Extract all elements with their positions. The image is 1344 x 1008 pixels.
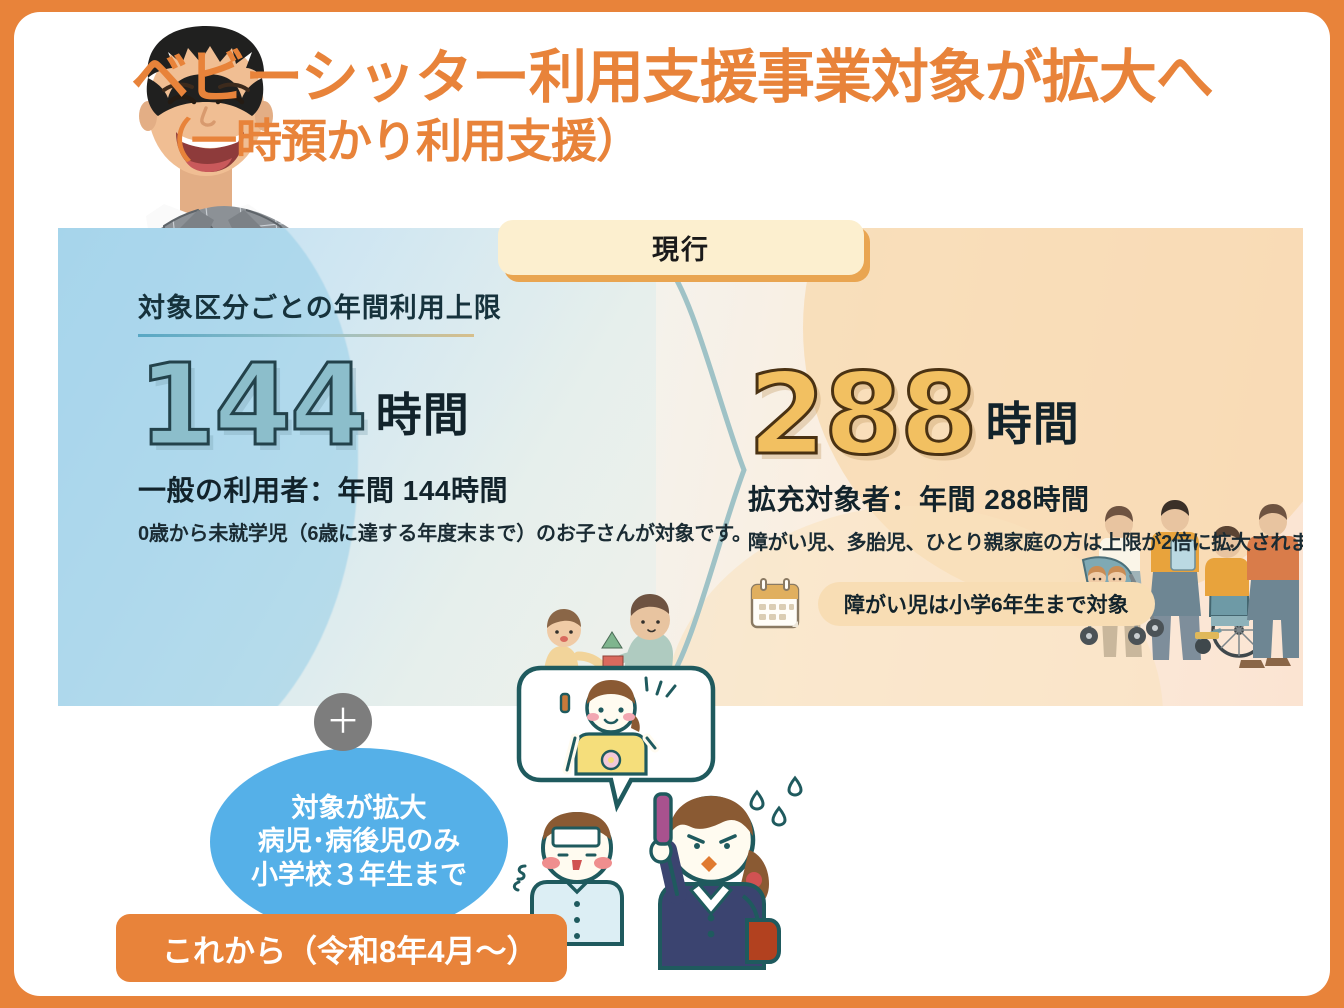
left-subline: 一般の利用者：年間 144時間: [138, 469, 698, 509]
left-figure-row: 144 時間: [138, 353, 698, 459]
future-banner-label: これから（令和8年4月～）: [162, 926, 537, 971]
right-subline: 拡充対象者：年間 288時間: [748, 478, 1303, 518]
heading-underline: [138, 334, 474, 337]
title-line-2: （一時預かり利用支援）: [14, 115, 1330, 168]
right-figure-row: 288 時間: [748, 362, 1303, 468]
poster-root: ベビーシッター利用支援事業対象が拡大へ （一時預かり利用支援） 現行: [0, 0, 1344, 1008]
plus-icon: ＋: [314, 693, 372, 751]
calendar-pill: 障がい児は小学6年生まで対象: [818, 582, 1155, 626]
badge-face: 現行: [498, 220, 864, 275]
right-hours-unit: 時間: [986, 388, 1080, 454]
current-status-badge: 現行: [498, 220, 870, 282]
calendar-callout: 障がい児は小学6年生まで対象: [748, 577, 1303, 631]
current-badge-label: 現行: [652, 228, 710, 267]
future-banner: これから（令和8年4月～）: [116, 914, 567, 982]
title-line-1: ベビーシッター利用支援事業対象が拡大へ: [14, 46, 1330, 109]
right-hours-number: 288: [748, 362, 976, 468]
right-column: 288 時間 拡充対象者：年間 288時間 障がい児、多胎児、ひとり親家庭の方は…: [748, 346, 1303, 631]
expansion-circle: 対象が拡大 病児･病後児のみ 小学校３年生まで: [210, 748, 508, 936]
left-hours-number: 144: [138, 353, 366, 459]
calendar-icon: [748, 577, 804, 631]
left-hours-unit: 時間: [376, 379, 470, 445]
plus-glyph: ＋: [326, 705, 360, 739]
left-column: 対象区分ごとの年間利用上限 144 時間 一般の利用者：年間 144時間 0歳か…: [138, 286, 698, 546]
expansion-line-1: 対象が拡大: [292, 792, 427, 825]
calendar-pill-label: 障がい児は小学6年生まで対象: [844, 594, 1129, 617]
panel-heading: 対象区分ごとの年間利用上限: [138, 286, 502, 332]
left-note: 0歳から未就学児（6歳に達する年度末まで）のお子さんが対象です。: [138, 517, 698, 546]
page-title: ベビーシッター利用支援事業対象が拡大へ （一時預かり利用支援）: [14, 46, 1330, 168]
expansion-line-3: 小学校３年生まで: [251, 859, 467, 892]
expansion-line-2: 病児･病後児のみ: [258, 825, 461, 858]
right-note: 障がい児、多胎児、ひとり親家庭の方は上限が2倍に拡大されます。: [748, 526, 1303, 555]
comparison-panel: 対象区分ごとの年間利用上限 144 時間 一般の利用者：年間 144時間 0歳か…: [58, 228, 1303, 706]
poster-card: ベビーシッター利用支援事業対象が拡大へ （一時預かり利用支援） 現行: [14, 12, 1330, 996]
